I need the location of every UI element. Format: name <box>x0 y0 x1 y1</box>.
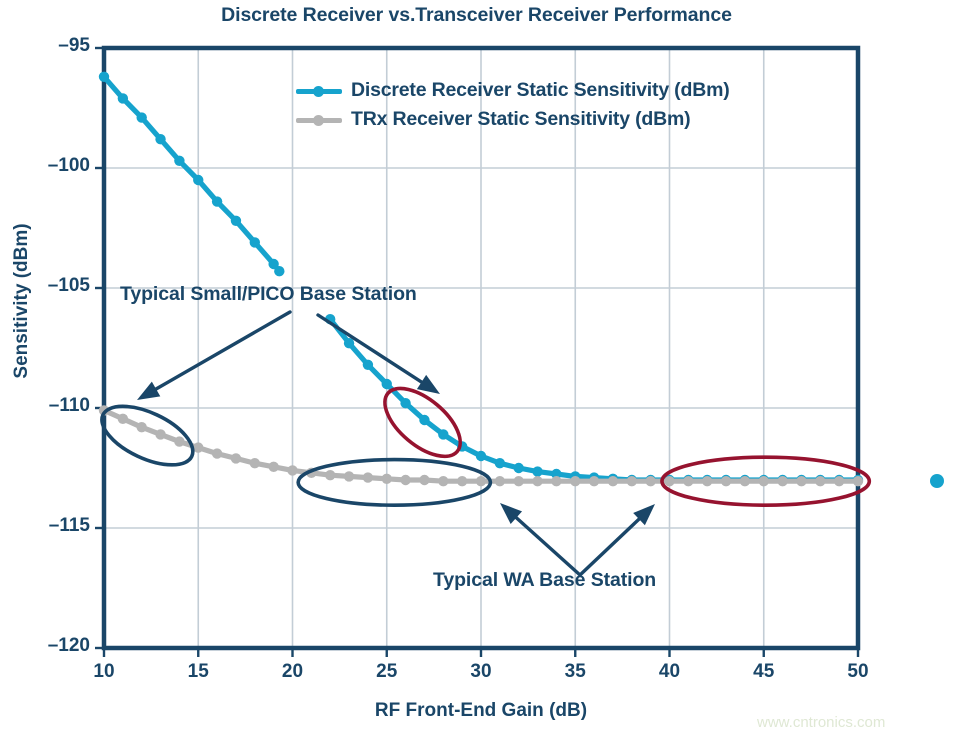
legend-label-discrete: Discrete Receiver Static Sensitivity (dB… <box>351 79 730 102</box>
series-marker <box>514 463 524 473</box>
series-marker <box>231 453 241 463</box>
legend-label-trx: TRx Receiver Static Sensitivity (dBm) <box>351 108 690 131</box>
series-marker <box>759 476 769 486</box>
series-marker <box>589 476 599 486</box>
series-marker <box>174 156 184 166</box>
x-tick-label: 30 <box>451 661 511 683</box>
series-marker <box>99 72 109 82</box>
series-marker <box>137 112 147 122</box>
series-marker <box>570 476 580 486</box>
chart-figure: Discrete Receiver vs.Transceiver Receive… <box>0 0 953 749</box>
series-marker <box>400 475 410 485</box>
x-tick-label: 50 <box>828 661 888 683</box>
series-marker <box>344 338 354 348</box>
series-marker <box>740 476 750 486</box>
series-marker <box>155 134 165 144</box>
series-marker <box>702 476 712 486</box>
series-marker <box>514 476 524 486</box>
series-marker <box>457 476 467 486</box>
legend-item-trx: TRx Receiver Static Sensitivity (dBm) <box>296 105 730 134</box>
series-marker <box>118 93 128 103</box>
series-marker <box>363 472 373 482</box>
series-marker <box>495 458 505 468</box>
arrow-head <box>417 375 440 394</box>
series-marker <box>212 196 222 206</box>
x-tick-label: 10 <box>74 661 134 683</box>
annotation-small-pico-base-station: Typical Small/PICO Base Station <box>120 283 417 306</box>
y-tick-label: –100 <box>18 155 90 177</box>
legend-swatch-discrete-icon <box>296 82 342 100</box>
series-marker <box>344 471 354 481</box>
stray-marker-dot <box>930 474 944 488</box>
series-marker <box>476 476 486 486</box>
series-marker <box>212 448 222 458</box>
series-marker <box>664 476 674 486</box>
arrow-shaft <box>318 315 422 382</box>
series-marker <box>495 476 505 486</box>
series-marker <box>287 465 297 475</box>
annotation-wa-base-station: Typical WA Base Station <box>433 569 656 592</box>
series-marker <box>325 470 335 480</box>
arrow-head <box>137 382 160 400</box>
series-marker <box>438 429 448 439</box>
series-marker <box>174 436 184 446</box>
y-tick-label: –120 <box>18 635 90 657</box>
series-marker <box>608 476 618 486</box>
series-marker <box>853 476 863 486</box>
series-marker <box>382 474 392 484</box>
arrow-to-discrete-pico-ellipse <box>318 315 440 394</box>
arrow-to-wa-trx-ellipse <box>500 503 580 575</box>
x-tick-label: 25 <box>357 661 417 683</box>
grid-lines <box>104 48 858 648</box>
series-marker <box>721 476 731 486</box>
watermark: www.cntronics.com <box>757 714 885 731</box>
legend-swatch-trx-icon <box>296 111 342 129</box>
series-marker <box>476 451 486 461</box>
series-marker <box>419 415 429 425</box>
x-tick-label: 15 <box>168 661 228 683</box>
series-marker <box>137 422 147 432</box>
series-marker <box>796 476 806 486</box>
series-marker <box>419 475 429 485</box>
arrow-to-wa-converged-ellipse <box>580 504 655 575</box>
arrow-to-trx-pico-ellipse <box>137 312 290 400</box>
x-tick-label: 40 <box>640 661 700 683</box>
arrow-shaft <box>516 518 580 575</box>
series-marker <box>193 175 203 185</box>
series-marker <box>645 476 655 486</box>
series-marker <box>155 429 165 439</box>
axis-ticks <box>95 48 858 657</box>
x-tick-label: 20 <box>263 661 323 683</box>
legend-item-discrete: Discrete Receiver Static Sensitivity (dB… <box>296 76 730 105</box>
series-marker <box>438 476 448 486</box>
series-marker <box>551 476 561 486</box>
series-marker <box>250 237 260 247</box>
x-tick-label: 45 <box>734 661 794 683</box>
series-marker <box>118 414 128 424</box>
series-marker <box>683 476 693 486</box>
x-tick-label: 35 <box>545 661 605 683</box>
series-marker <box>400 398 410 408</box>
series-marker <box>274 266 284 276</box>
series-marker <box>268 462 278 472</box>
series-marker <box>250 458 260 468</box>
series-marker <box>532 466 542 476</box>
series-marker <box>777 476 787 486</box>
chart-legend: Discrete Receiver Static Sensitivity (dB… <box>296 76 730 134</box>
series-marker <box>382 379 392 389</box>
series-marker <box>363 360 373 370</box>
y-tick-label: –115 <box>18 515 90 537</box>
series-marker <box>231 216 241 226</box>
highlight-ellipse-pico-trx-ellipse <box>93 394 201 477</box>
series-marker <box>815 476 825 486</box>
series-marker <box>532 476 542 486</box>
series-marker <box>834 476 844 486</box>
y-tick-label: –95 <box>18 35 90 57</box>
series-marker <box>627 476 637 486</box>
y-tick-label: –110 <box>18 395 90 417</box>
y-tick-label: –105 <box>18 275 90 297</box>
arrow-shaft <box>156 312 290 389</box>
